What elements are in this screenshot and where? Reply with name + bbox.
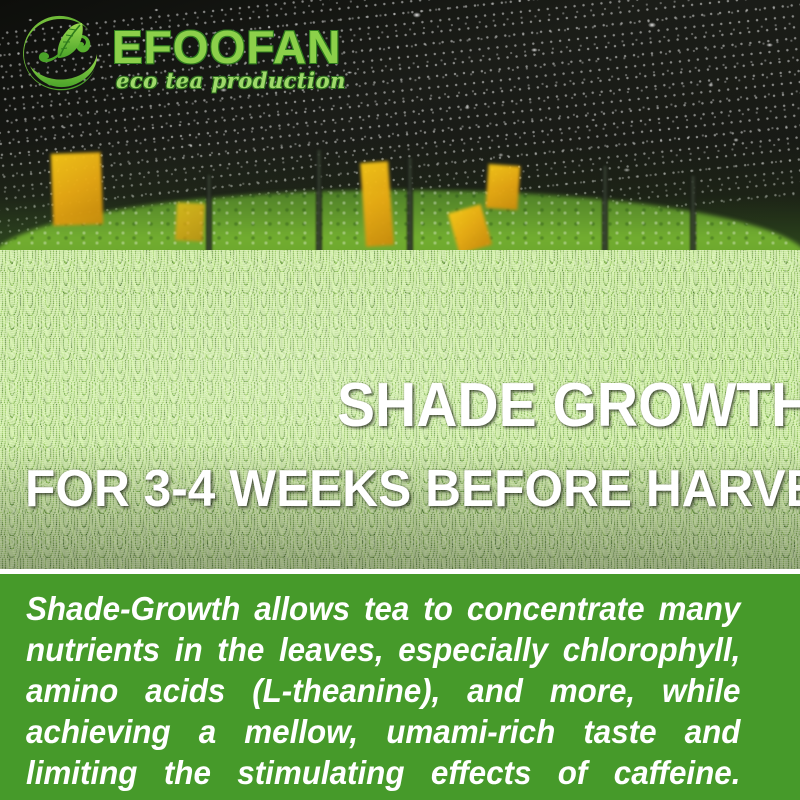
description-panel: Shade-Growth allows tea to concentrate m… bbox=[0, 574, 800, 800]
yellow-sticky-trap bbox=[360, 161, 394, 247]
yellow-sticky-trap bbox=[51, 152, 103, 226]
yellow-sticky-trap bbox=[486, 164, 521, 210]
yellow-sticky-trap bbox=[175, 202, 205, 241]
foliage-shading-overlay bbox=[0, 250, 800, 569]
leaf-circle-logo-icon bbox=[12, 10, 108, 98]
brand-tagline: eco tea production bbox=[116, 70, 346, 91]
brand-wordmark: EFOOFAN bbox=[112, 24, 341, 70]
description-text: Shade-Growth allows tea to concentrate m… bbox=[26, 588, 740, 800]
brand-logo[interactable]: EFOOFAN eco tea production bbox=[12, 8, 332, 100]
shade-growth-infographic: EFOOFAN eco tea production SHADE GROWTH … bbox=[0, 0, 800, 800]
